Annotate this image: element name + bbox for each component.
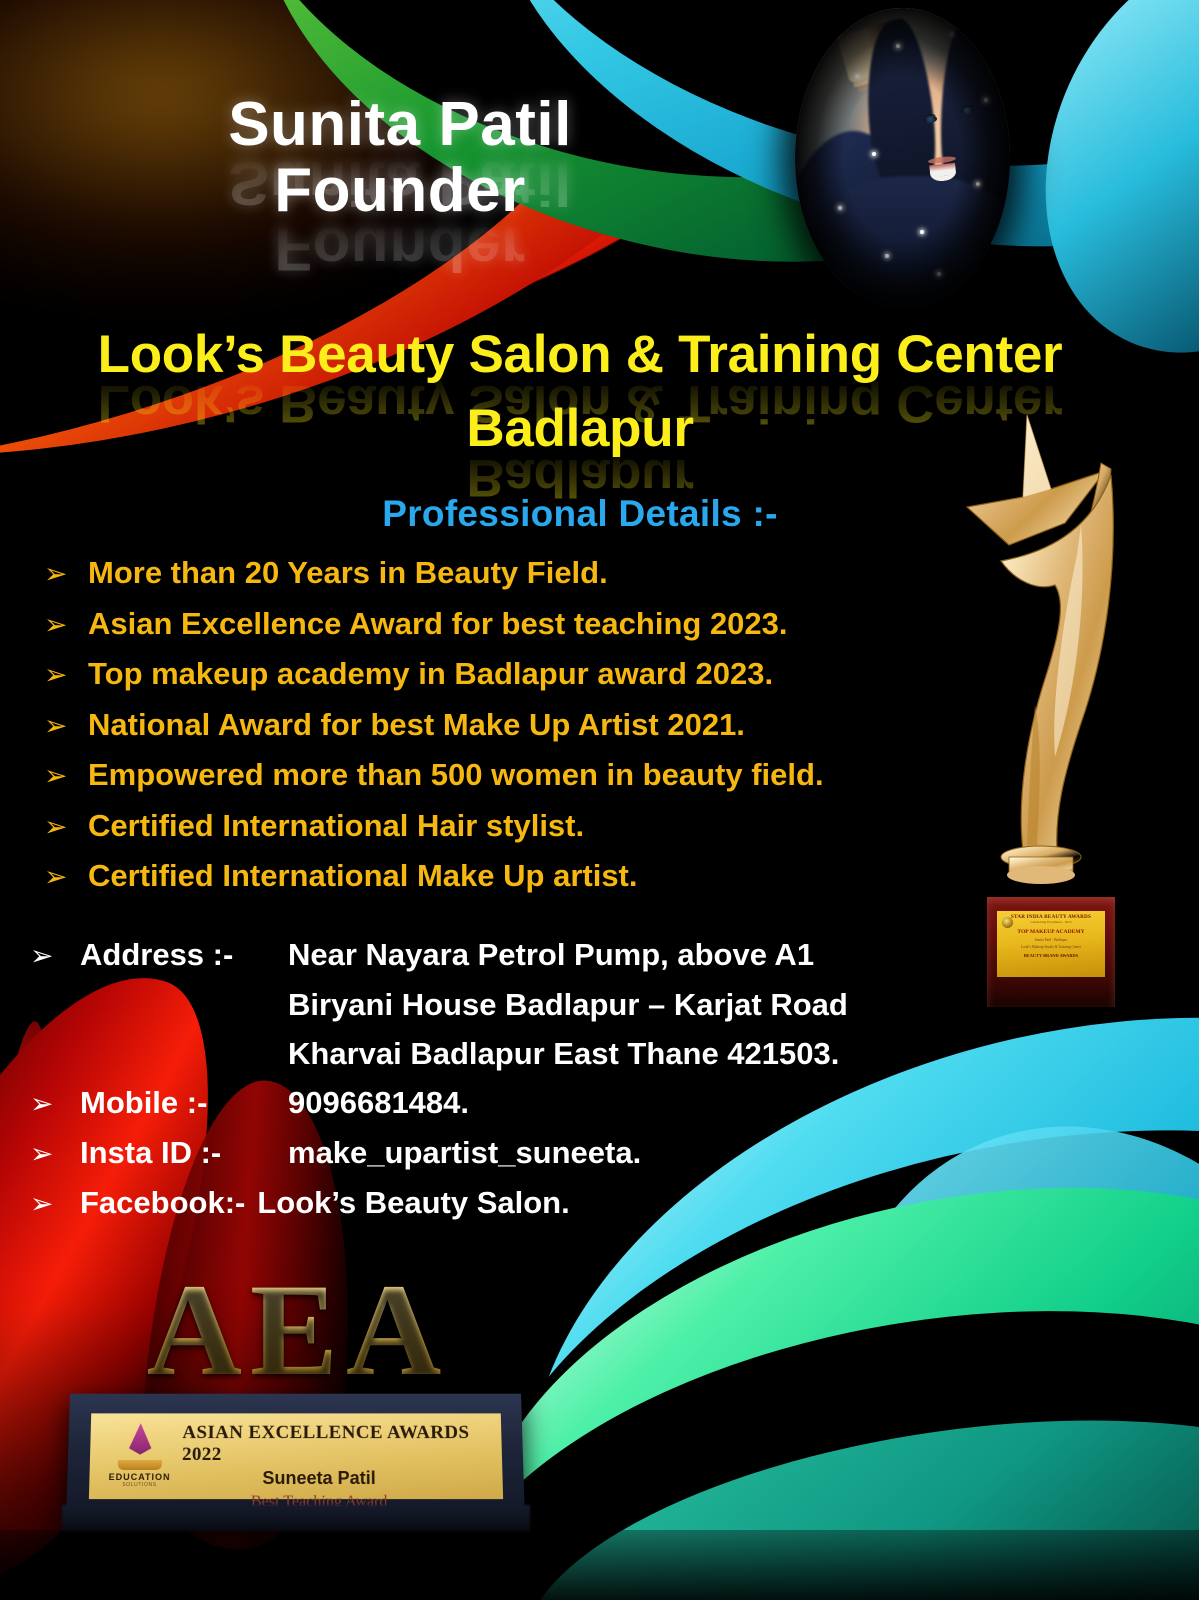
list-item: ➢ More than 20 Years in Beauty Field.	[44, 548, 1044, 599]
list-item-label: National Award for best Make Up Artist 2…	[88, 700, 1044, 750]
contact-value-address: Near Nayara Petrol Pump, above A1	[288, 930, 1070, 979]
list-item-label: Empowered more than 500 women in beauty …	[88, 750, 1044, 800]
arrow-bullet-icon: ➢	[44, 701, 88, 751]
contact-row-mobile[interactable]: ➢ Mobile :- 9096681484.	[30, 1078, 1070, 1128]
arrow-bullet-icon: ➢	[30, 931, 80, 980]
arrow-bullet-icon: ➢	[30, 1079, 80, 1128]
list-item: ➢ Asian Excellence Award for best teachi…	[44, 599, 1044, 650]
contact-details-list: ➢ Address :- Near Nayara Petrol Pump, ab…	[30, 930, 1070, 1228]
address-line-3: Kharvai Badlapur East Thane 421503.	[30, 1029, 1070, 1078]
business-name-line-1: Look’s Beauty Salon & Training Center Lo…	[0, 318, 1160, 392]
arrow-bullet-icon: ➢	[44, 852, 88, 902]
business-name-line-2: Badlapur Badlapur	[0, 392, 1160, 466]
professional-details-heading: Professional Details :-	[0, 493, 1160, 535]
arrow-bullet-icon: ➢	[44, 650, 88, 700]
contact-row-address: ➢ Address :- Near Nayara Petrol Pump, ab…	[30, 930, 1070, 980]
contact-row-instagram[interactable]: ➢ Insta ID :- make_upartist_suneeta.	[30, 1128, 1070, 1178]
arrow-bullet-icon: ➢	[30, 1129, 80, 1178]
list-item: ➢ Empowered more than 500 women in beaut…	[44, 750, 1044, 801]
founder-name: Sunita Patil Sunita Patil	[0, 92, 800, 158]
contact-value-mobile[interactable]: 9096681484.	[288, 1078, 1070, 1127]
founder-role: Founder Founder	[0, 158, 800, 224]
list-item-label: Certified International Hair stylist.	[88, 801, 1044, 851]
list-item-label: Top makeup academy in Badlapur award 202…	[88, 649, 1044, 699]
business-name-block: Look’s Beauty Salon & Training Center Lo…	[0, 318, 1160, 466]
contact-row-facebook[interactable]: ➢ Facebook:- Look’s Beauty Salon.	[30, 1178, 1070, 1228]
founder-name-text: Sunita Patil	[228, 90, 572, 159]
contact-label-address: Address :-	[80, 930, 288, 979]
contact-label-facebook: Facebook:-	[80, 1178, 257, 1227]
founder-name-block: Sunita Patil Sunita Patil Founder Founde…	[0, 92, 800, 224]
list-item-label: Certified International Make Up artist.	[88, 851, 1044, 901]
business-name-text-2: Badlapur	[466, 399, 693, 458]
contact-label-instagram: Insta ID :-	[80, 1128, 288, 1177]
list-item-label: Asian Excellence Award for best teaching…	[88, 599, 1044, 649]
poster-canvas: STAR INDIA BEAUTY AWARDS Celebrating Exc…	[0, 0, 1199, 1600]
poster-text-content: Sunita Patil Sunita Patil Founder Founde…	[0, 0, 1199, 1600]
contact-value-facebook[interactable]: Look’s Beauty Salon.	[257, 1178, 1070, 1227]
list-item: ➢ National Award for best Make Up Artist…	[44, 700, 1044, 751]
arrow-bullet-icon: ➢	[44, 600, 88, 650]
arrow-bullet-icon: ➢	[30, 1179, 80, 1228]
business-name-text-1: Look’s Beauty Salon & Training Center	[98, 325, 1063, 384]
address-line-2: Biryani House Badlapur – Karjat Road	[30, 980, 1070, 1029]
founder-role-text: Founder	[274, 156, 525, 225]
contact-value-instagram[interactable]: make_upartist_suneeta.	[288, 1128, 1070, 1177]
professional-details-list: ➢ More than 20 Years in Beauty Field. ➢ …	[44, 548, 1044, 902]
contact-label-mobile: Mobile :-	[80, 1078, 288, 1127]
list-item-label: More than 20 Years in Beauty Field.	[88, 548, 1044, 598]
list-item: ➢ Certified International Hair stylist.	[44, 801, 1044, 852]
list-item: ➢ Certified International Make Up artist…	[44, 851, 1044, 902]
arrow-bullet-icon: ➢	[44, 549, 88, 599]
arrow-bullet-icon: ➢	[44, 751, 88, 801]
list-item: ➢ Top makeup academy in Badlapur award 2…	[44, 649, 1044, 700]
arrow-bullet-icon: ➢	[44, 802, 88, 852]
